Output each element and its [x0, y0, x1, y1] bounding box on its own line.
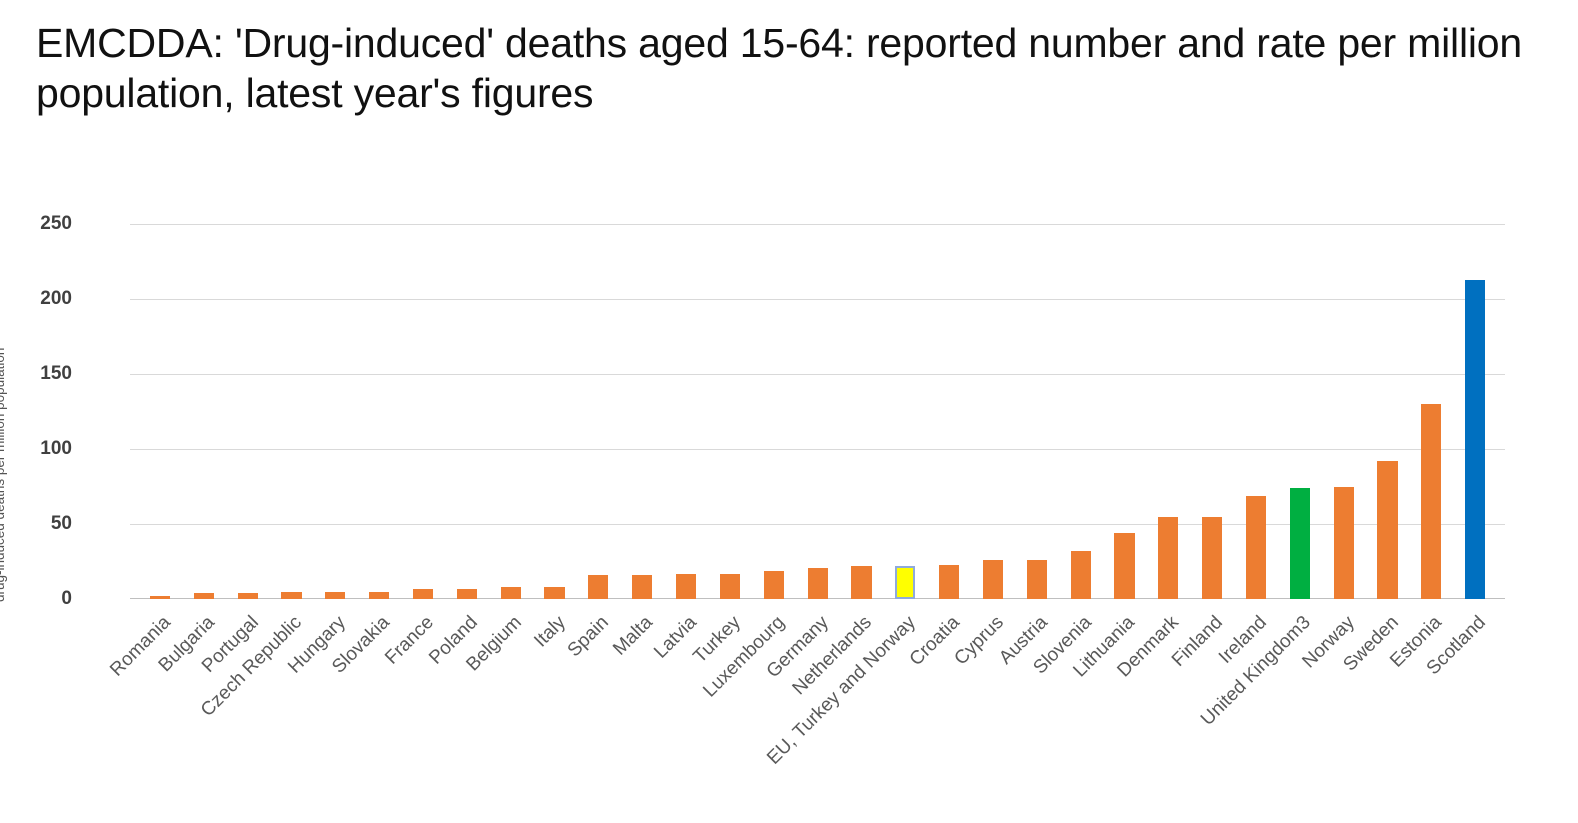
y-axis-tick-label: 100 — [12, 438, 72, 460]
bar-slot — [1409, 224, 1453, 599]
bar-slot — [1366, 224, 1410, 599]
x-label-slot: Latvia — [664, 604, 708, 804]
bar-slot — [576, 224, 620, 599]
x-label-slot: Cyprus — [971, 604, 1015, 804]
bar-sweden[interactable] — [1377, 461, 1397, 599]
bar-slot — [1103, 224, 1147, 599]
bar-slot — [1015, 224, 1059, 599]
bar-slot — [270, 224, 314, 599]
x-label-slot: Norway — [1322, 604, 1366, 804]
bar-hungary[interactable] — [325, 592, 345, 600]
bar-malta[interactable] — [632, 575, 652, 599]
x-label-slot: Slovenia — [1059, 604, 1103, 804]
x-label-slot: Poland — [445, 604, 489, 804]
bar-slot — [313, 224, 357, 599]
bar-slot — [401, 224, 445, 599]
x-label-slot: Scotland — [1453, 604, 1497, 804]
x-label-slot: Denmark — [1146, 604, 1190, 804]
y-axis-tick-label: 200 — [12, 288, 72, 310]
bar-slot — [357, 224, 401, 599]
bar-cyprus[interactable] — [983, 560, 1003, 599]
bar-portugal[interactable] — [238, 593, 258, 599]
bar-slot — [971, 224, 1015, 599]
bar-luxembourg[interactable] — [764, 571, 784, 600]
x-label-slot: Netherlands — [840, 604, 884, 804]
y-axis-tick-label: 50 — [12, 513, 72, 535]
x-label-slot: Austria — [1015, 604, 1059, 804]
x-label-slot: Belgium — [489, 604, 533, 804]
bar-austria[interactable] — [1027, 560, 1047, 599]
bar-lithuania[interactable] — [1114, 533, 1134, 599]
x-label-slot: Sweden — [1366, 604, 1410, 804]
x-label-slot: United Kingdom3 — [1278, 604, 1322, 804]
y-axis-tick-label: 150 — [12, 363, 72, 385]
x-label-slot: Czech Republic — [270, 604, 314, 804]
bar-slot — [840, 224, 884, 599]
bar-czech-republic[interactable] — [281, 592, 301, 600]
x-label-slot: Turkey — [708, 604, 752, 804]
y-axis-title: drug-induced deaths per million populati… — [0, 222, 7, 602]
bar-eu-turkey-and-norway[interactable] — [895, 566, 915, 599]
x-label-slot: Hungary — [313, 604, 357, 804]
bar-slovenia[interactable] — [1071, 551, 1091, 599]
bar-slot — [708, 224, 752, 599]
x-label-slot: Spain — [576, 604, 620, 804]
bar-slot — [620, 224, 664, 599]
bar-slot — [1453, 224, 1497, 599]
x-label-slot: Portugal — [226, 604, 270, 804]
bar-slot — [1146, 224, 1190, 599]
x-label-slot: Luxembourg — [752, 604, 796, 804]
bar-series — [130, 224, 1505, 599]
bar-bulgaria[interactable] — [194, 593, 214, 599]
x-label-slot: Romania — [138, 604, 182, 804]
bar-slot — [182, 224, 226, 599]
plot-area — [130, 224, 1505, 599]
x-label-slot: Slovakia — [357, 604, 401, 804]
bar-slot — [883, 224, 927, 599]
bar-italy[interactable] — [544, 587, 564, 599]
bar-slot — [664, 224, 708, 599]
bar-scotland[interactable] — [1465, 280, 1485, 600]
x-label-slot: Italy — [533, 604, 577, 804]
bar-croatia[interactable] — [939, 565, 959, 600]
bar-slot — [1234, 224, 1278, 599]
bar-slot — [1322, 224, 1366, 599]
chart-container: EMCDDA: 'Drug-induced' deaths aged 15-64… — [0, 0, 1578, 823]
x-label-slot: Ireland — [1234, 604, 1278, 804]
bar-slot — [927, 224, 971, 599]
bar-estonia[interactable] — [1421, 404, 1441, 599]
x-label-slot: France — [401, 604, 445, 804]
bar-united-kingdom3[interactable] — [1290, 488, 1310, 599]
bar-slot — [752, 224, 796, 599]
bar-slovakia[interactable] — [369, 592, 389, 600]
bar-romania[interactable] — [150, 596, 170, 599]
y-axis-tick-label: 0 — [12, 588, 72, 610]
bar-denmark[interactable] — [1158, 517, 1178, 600]
x-label-slot: Lithuania — [1103, 604, 1147, 804]
bar-france[interactable] — [413, 589, 433, 600]
bar-belgium[interactable] — [501, 587, 521, 599]
bar-slot — [1059, 224, 1103, 599]
bar-spain[interactable] — [588, 575, 608, 599]
bar-slot — [226, 224, 270, 599]
x-label-slot: Croatia — [927, 604, 971, 804]
bar-slot — [1190, 224, 1234, 599]
bar-finland[interactable] — [1202, 517, 1222, 600]
bar-slot — [445, 224, 489, 599]
bar-ireland[interactable] — [1246, 496, 1266, 600]
bar-slot — [533, 224, 577, 599]
x-label-slot: EU, Turkey and Norway — [883, 604, 927, 804]
bar-turkey[interactable] — [720, 574, 740, 600]
bar-slot — [1278, 224, 1322, 599]
bar-germany[interactable] — [808, 568, 828, 600]
x-axis-labels: RomaniaBulgariaPortugalCzech RepublicHun… — [130, 604, 1505, 804]
bar-slot — [489, 224, 533, 599]
bar-netherlands[interactable] — [851, 566, 871, 599]
x-label-slot: Malta — [620, 604, 664, 804]
bar-slot — [796, 224, 840, 599]
x-label-slot: Estonia — [1409, 604, 1453, 804]
bar-latvia[interactable] — [676, 574, 696, 600]
bar-poland[interactable] — [457, 589, 477, 600]
y-axis-tick-label: 250 — [12, 213, 72, 235]
bar-slot — [138, 224, 182, 599]
chart-title: EMCDDA: 'Drug-induced' deaths aged 15-64… — [36, 18, 1536, 118]
bar-norway[interactable] — [1334, 487, 1354, 600]
